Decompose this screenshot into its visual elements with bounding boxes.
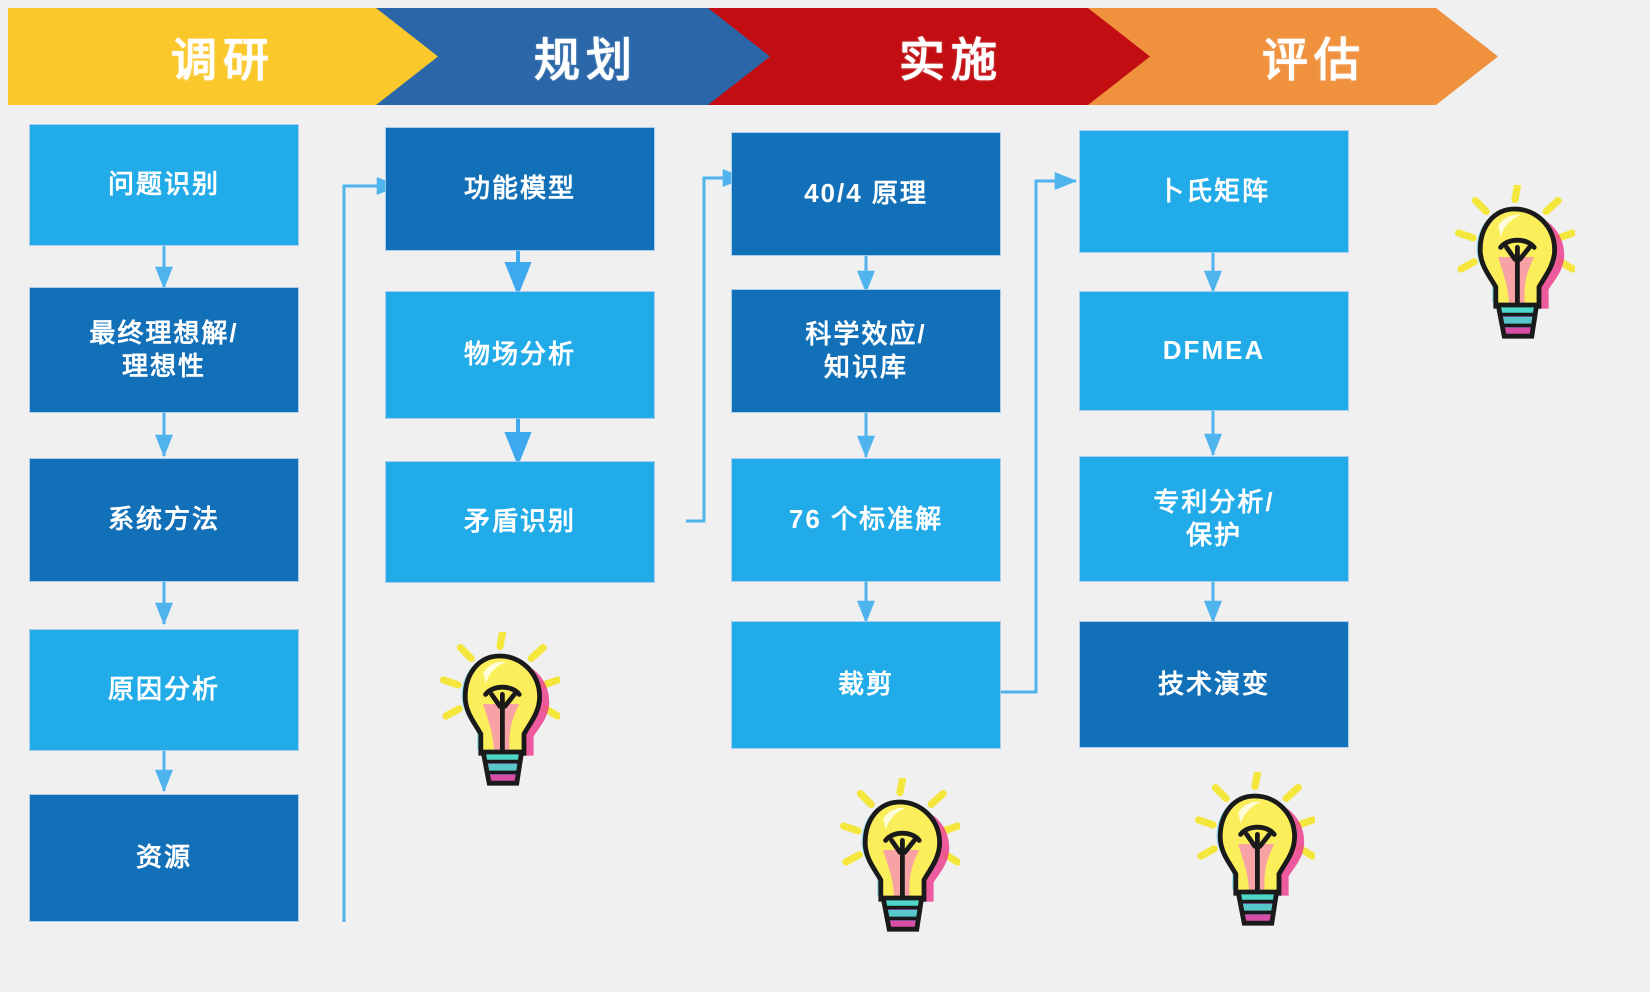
box-label: 资源 <box>130 841 198 874</box>
stage-label-1: 调研 <box>171 24 275 90</box>
box-label: 技术演变 <box>1152 668 1276 701</box>
lightbulb-icon-2 <box>440 632 560 794</box>
box-problem-identification[interactable]: 问题识别 <box>30 125 298 245</box>
box-system-method[interactable]: 系统方法 <box>30 459 298 581</box>
box-label: 原因分析 <box>102 673 226 706</box>
box-technology-evolution[interactable]: 技术演变 <box>1080 622 1348 747</box>
box-label: 76 个标准解 <box>783 503 949 536</box>
box-label: 矛盾识别 <box>458 505 582 538</box>
box-trimming[interactable]: 裁剪 <box>732 622 1000 748</box>
box-label: 裁剪 <box>832 668 900 701</box>
process-stage-banner: 调研 规划 实施 评估 <box>0 0 1650 112</box>
box-pugh-matrix[interactable]: 卜氏矩阵 <box>1080 131 1348 252</box>
box-ideal-final-result[interactable]: 最终理想解/ 理想性 <box>30 288 298 412</box>
box-label: 功能模型 <box>458 172 582 205</box>
box-label: 系统方法 <box>102 503 226 536</box>
stage-label-4: 评估 <box>1262 24 1366 90</box>
box-substance-field-analysis[interactable]: 物场分析 <box>386 292 654 418</box>
lightbulb-icon-3 <box>840 778 960 940</box>
box-label: 卜氏矩阵 <box>1152 175 1276 208</box>
box-resources[interactable]: 资源 <box>30 795 298 921</box>
box-label: 物场分析 <box>458 338 582 371</box>
box-76-standard-solutions[interactable]: 76 个标准解 <box>732 459 1000 581</box>
lightbulb-icon-1 <box>1455 185 1575 347</box>
box-label: 40/4 原理 <box>798 177 934 210</box>
box-label: 科学效应/ 知识库 <box>799 318 932 385</box>
box-patent-analysis-protection[interactable]: 专利分析/ 保护 <box>1080 457 1348 581</box>
stage-label-2: 规划 <box>534 24 638 90</box>
stage-evaluation[interactable]: 评估 <box>1078 8 1558 105</box>
box-cause-analysis[interactable]: 原因分析 <box>30 630 298 750</box>
stage-label-3: 实施 <box>899 24 1003 90</box>
box-label: 最终理想解/ 理想性 <box>83 317 244 384</box>
diagram-canvas: 调研 规划 实施 评估 <box>0 0 1650 992</box>
box-dfmea[interactable]: DFMEA <box>1080 292 1348 410</box>
box-label: 问题识别 <box>102 168 226 201</box>
box-label: DFMEA <box>1157 334 1271 367</box>
box-function-model[interactable]: 功能模型 <box>386 128 654 250</box>
lightbulb-icon-4 <box>1195 772 1315 934</box>
box-label: 专利分析/ 保护 <box>1147 486 1280 553</box>
box-contradiction-identification[interactable]: 矛盾识别 <box>386 462 654 582</box>
box-scientific-effects-knowledge-base[interactable]: 科学效应/ 知识库 <box>732 290 1000 412</box>
box-40-4-principles[interactable]: 40/4 原理 <box>732 133 1000 255</box>
